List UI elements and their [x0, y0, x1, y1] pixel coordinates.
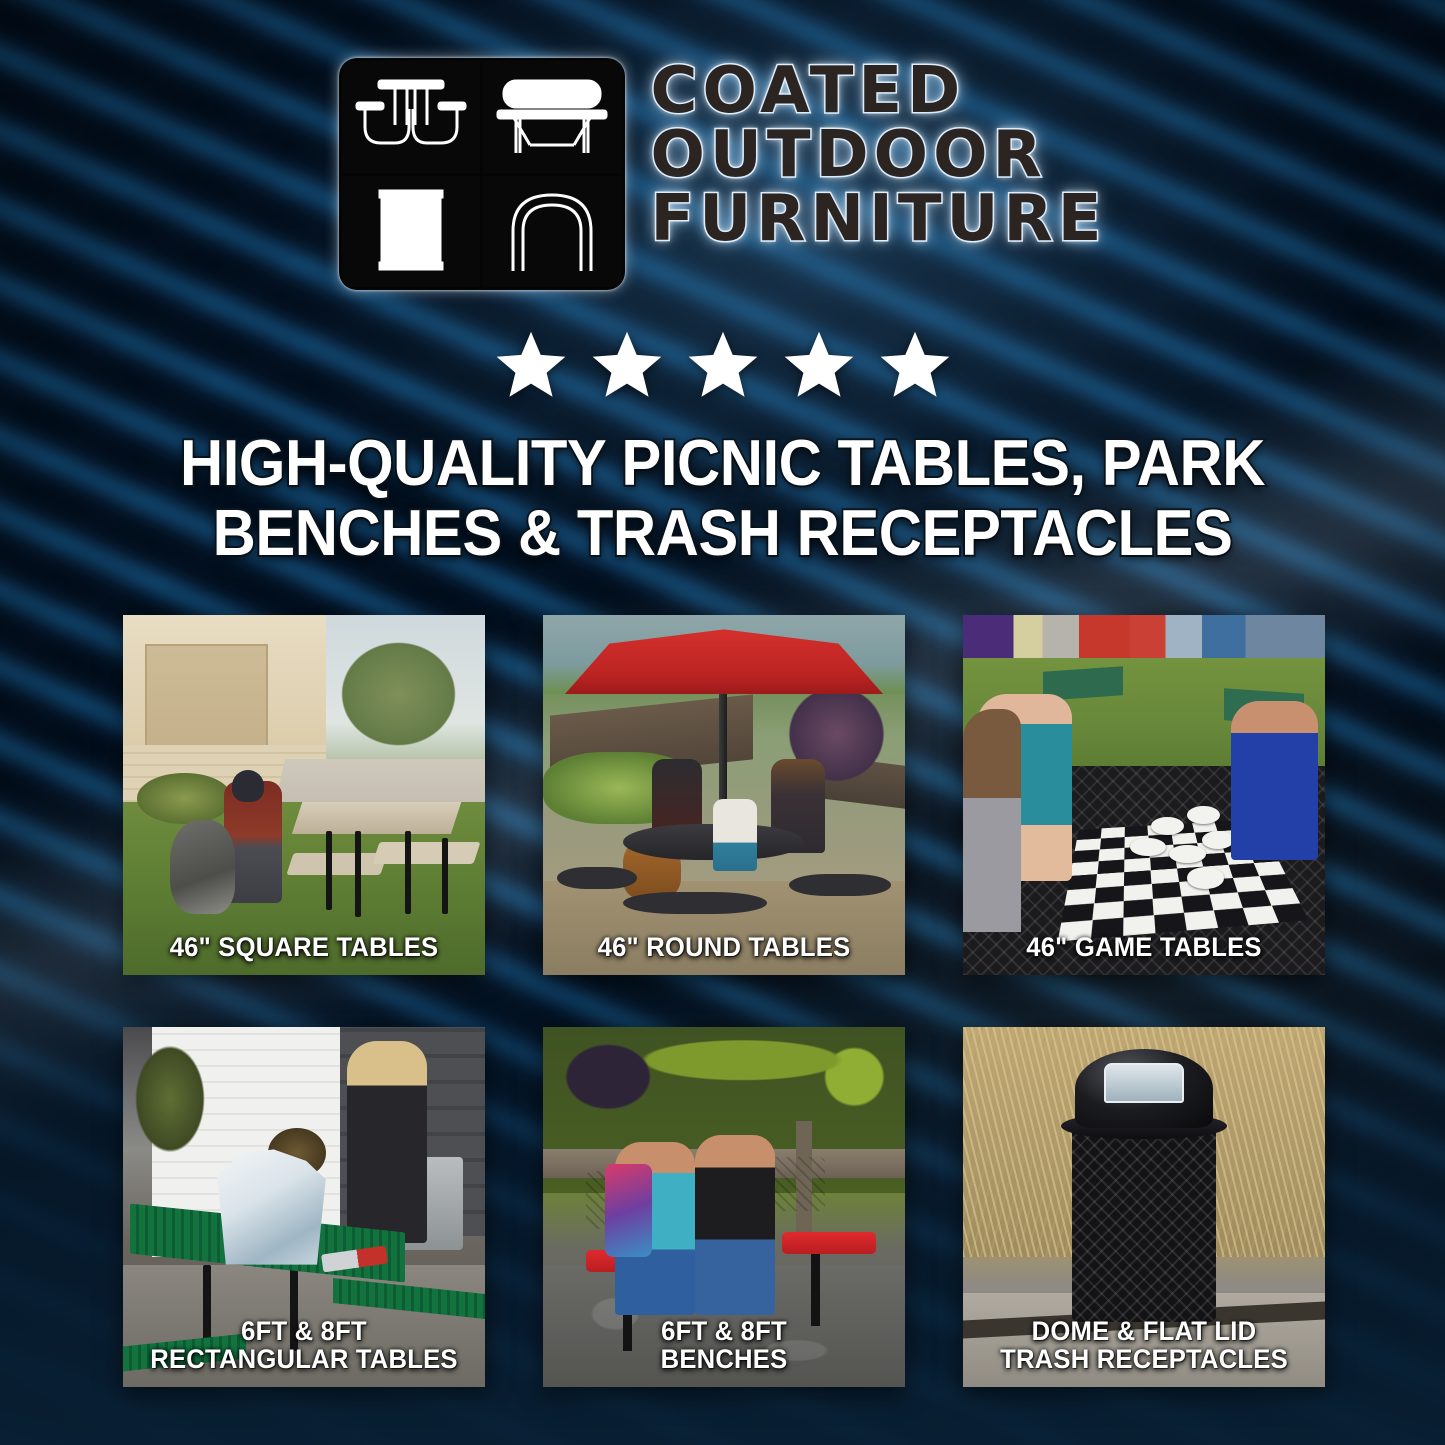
caption-line: 6FT & 8FT — [138, 1317, 471, 1345]
caption-line: 46" SQUARE TABLES — [138, 933, 471, 961]
star-icon — [876, 328, 954, 403]
bench-icon — [483, 61, 622, 173]
star-icon — [684, 328, 762, 403]
product-caption: DOME & FLAT LID TRASH RECEPTACLES — [963, 1317, 1325, 1373]
caption-line: BENCHES — [558, 1345, 891, 1373]
product-caption: 46" ROUND TABLES — [543, 933, 905, 961]
star-icon — [492, 328, 570, 403]
product-tile-round-tables[interactable]: 46" ROUND TABLES — [543, 615, 905, 975]
product-tile-benches[interactable]: 6FT & 8FT BENCHES — [543, 1027, 905, 1387]
product-photo-game-tables — [963, 615, 1325, 975]
product-tile-game-tables[interactable]: 46" GAME TABLES — [963, 615, 1325, 975]
product-photo-square-tables — [123, 615, 485, 975]
product-grid: 46" SQUARE TABLES — [123, 615, 1325, 1387]
caption-line: 46" ROUND TABLES — [558, 933, 891, 961]
promo-poster: COATED OUTDOOR FURNITURE HIGH-QUALITY PI… — [0, 0, 1445, 1445]
caption-line: RECTANGULAR TABLES — [138, 1345, 471, 1373]
brand-line-3: FURNITURE — [651, 188, 1107, 250]
caption-line: TRASH RECEPTACLES — [978, 1345, 1311, 1373]
brand-line-2: OUTDOOR — [651, 124, 1107, 186]
star-icon — [588, 328, 666, 403]
bike-rack-icon — [483, 176, 622, 288]
star-rating — [0, 328, 1445, 403]
product-photo-round-tables — [543, 615, 905, 975]
headline-line-2: BENCHES & TRASH RECEPTACLES — [113, 498, 1332, 568]
picnic-table-icon — [342, 61, 481, 173]
headline-line-1: HIGH-QUALITY PICNIC TABLES, PARK — [113, 428, 1332, 498]
logo-icon-grid — [339, 58, 625, 290]
product-caption: 6FT & 8FT BENCHES — [543, 1317, 905, 1373]
brand-line-1: COATED — [651, 60, 1107, 122]
caption-line: DOME & FLAT LID — [978, 1317, 1311, 1345]
product-tile-trash-receptacles[interactable]: DOME & FLAT LID TRASH RECEPTACLES — [963, 1027, 1325, 1387]
caption-line: 46" GAME TABLES — [978, 933, 1311, 961]
caption-line: 6FT & 8FT — [558, 1317, 891, 1345]
product-caption: 6FT & 8FT RECTANGULAR TABLES — [123, 1317, 485, 1373]
page-title: HIGH-QUALITY PICNIC TABLES, PARK BENCHES… — [0, 428, 1445, 567]
product-tile-square-tables[interactable]: 46" SQUARE TABLES — [123, 615, 485, 975]
brand-wordmark: COATED OUTDOOR FURNITURE — [651, 58, 1107, 250]
brand-logo: COATED OUTDOOR FURNITURE — [0, 58, 1445, 290]
trash-receptacle-icon — [342, 176, 481, 288]
product-caption: 46" SQUARE TABLES — [123, 933, 485, 961]
product-caption: 46" GAME TABLES — [963, 933, 1325, 961]
product-tile-rectangular-tables[interactable]: 6FT & 8FT RECTANGULAR TABLES — [123, 1027, 485, 1387]
star-icon — [780, 328, 858, 403]
